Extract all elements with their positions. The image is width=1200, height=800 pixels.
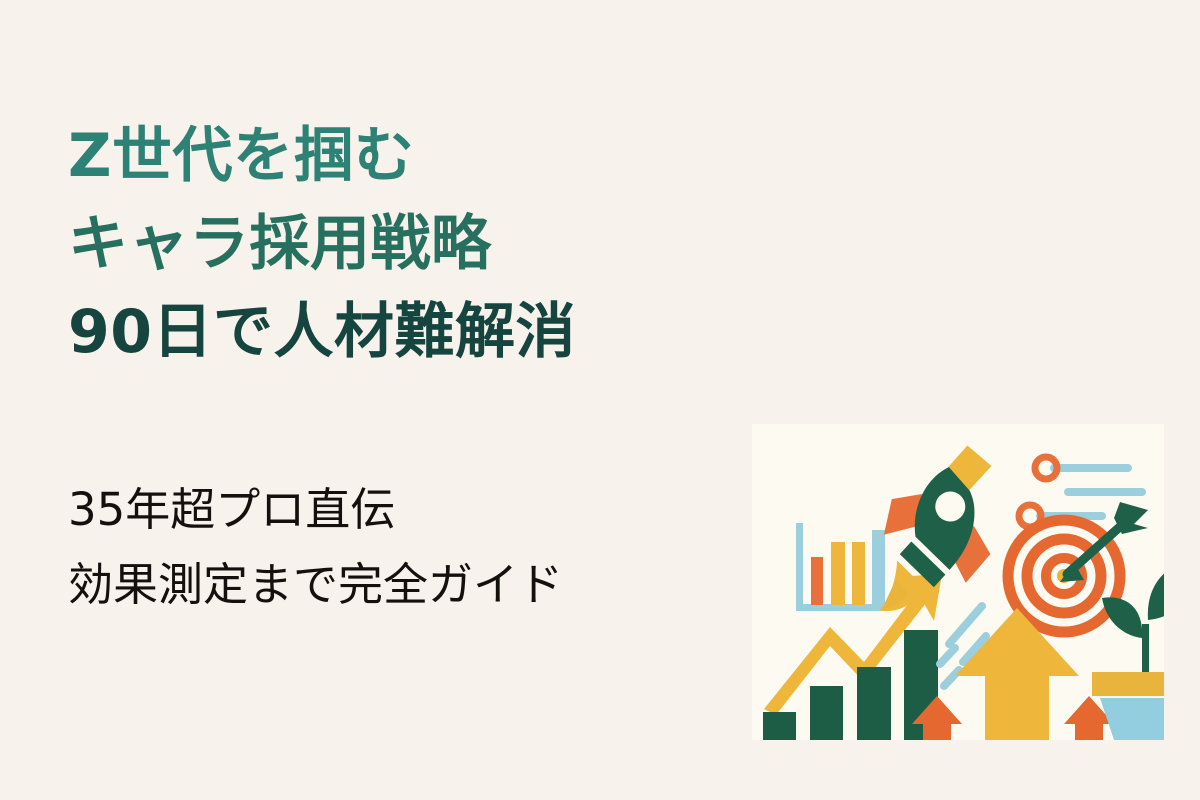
mini-bar-blue (872, 530, 885, 605)
growth-bar-1 (763, 712, 796, 740)
subtitle-line-2: 効果測定まで完全ガイド (68, 547, 768, 622)
mini-bar-yellow-2 (852, 542, 865, 605)
subtitle-line-1: 35年超プロ直伝 (68, 472, 768, 547)
growth-bar-3 (857, 667, 891, 740)
headline-line-2: キャラ採用戦略 (68, 200, 768, 288)
thumbnail-canvas: Z世代を掴む キャラ採用戦略 90日で人材難解消 35年超プロ直伝 効果測定まで… (0, 0, 1200, 800)
growth-business-illustration (752, 424, 1164, 740)
pot-rim (1092, 672, 1164, 696)
plant-stem (1142, 624, 1149, 674)
mini-bar-orange (811, 557, 823, 605)
headline-line-3: 90日で人材難解消 (68, 288, 768, 376)
growth-bar-2 (810, 686, 843, 740)
mini-bar-yellow-1 (831, 542, 845, 605)
headline-line-1: Z世代を掴む (68, 112, 768, 200)
headline-block: Z世代を掴む キャラ採用戦略 90日で人材難解消 (68, 112, 768, 376)
subtitle-block: 35年超プロ直伝 効果測定まで完全ガイド (68, 472, 768, 622)
